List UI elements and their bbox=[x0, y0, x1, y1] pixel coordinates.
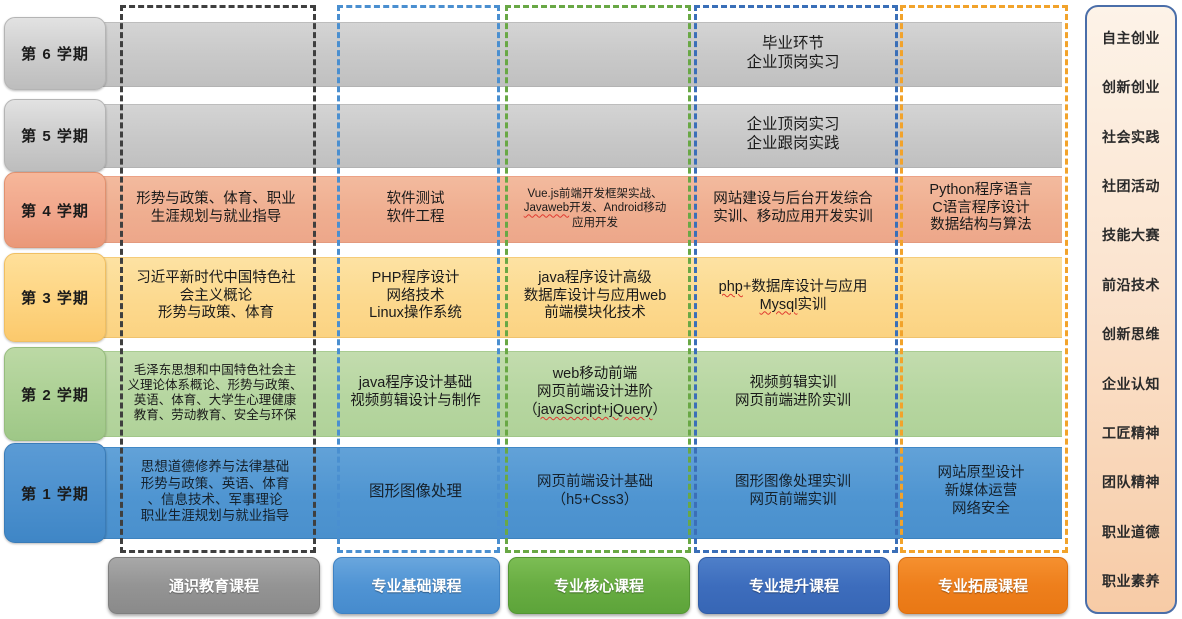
legend-professional-extension[interactable]: 专业拓展课程 bbox=[898, 557, 1068, 614]
legend-label-basic: 专业基础课程 bbox=[371, 575, 461, 596]
side-item-3[interactable]: 社团活动 bbox=[1087, 176, 1175, 196]
legend-label-advance: 专业提升课程 bbox=[749, 575, 839, 596]
category-column-advance[interactable] bbox=[694, 5, 898, 553]
side-item-10[interactable]: 职业道德 bbox=[1087, 522, 1175, 542]
side-item-9[interactable]: 团队精神 bbox=[1087, 472, 1175, 492]
semester-pill-3[interactable]: 第 3 学期 bbox=[4, 253, 106, 342]
side-item-5[interactable]: 前沿技术 bbox=[1087, 275, 1175, 295]
semester-label-3: 第 3 学期 bbox=[21, 287, 89, 308]
semester-pill-2[interactable]: 第 2 学期 bbox=[4, 347, 106, 441]
side-item-7[interactable]: 企业认知 bbox=[1087, 374, 1175, 394]
side-item-0[interactable]: 自主创业 bbox=[1087, 28, 1175, 48]
category-column-general[interactable] bbox=[120, 5, 316, 553]
legend-professional-basic[interactable]: 专业基础课程 bbox=[333, 557, 500, 614]
legend-label-general: 通识教育课程 bbox=[169, 575, 259, 596]
side-item-4[interactable]: 技能大赛 bbox=[1087, 225, 1175, 245]
semester-label-2: 第 2 学期 bbox=[21, 384, 89, 405]
category-column-basic[interactable] bbox=[337, 5, 500, 553]
curriculum-diagram: 第 6 学期 第 5 学期 第 4 学期 第 3 学期 第 2 学期 第 1 学… bbox=[0, 0, 1182, 619]
legend-label-core: 专业核心课程 bbox=[554, 575, 644, 596]
semester-pill-5[interactable]: 第 5 学期 bbox=[4, 99, 106, 172]
side-item-2[interactable]: 社会实践 bbox=[1087, 127, 1175, 147]
semester-label-5: 第 5 学期 bbox=[21, 125, 89, 146]
legend-general-education[interactable]: 通识教育课程 bbox=[108, 557, 320, 614]
category-column-extension[interactable] bbox=[900, 5, 1068, 553]
semester-label-4: 第 4 学期 bbox=[21, 200, 89, 221]
category-column-core[interactable] bbox=[505, 5, 691, 553]
quality-development-panel: 自主创业 创新创业 社会实践 社团活动 技能大赛 前沿技术 创新思维 企业认知 … bbox=[1085, 5, 1177, 614]
legend-professional-advance[interactable]: 专业提升课程 bbox=[698, 557, 890, 614]
side-item-11[interactable]: 职业素养 bbox=[1087, 571, 1175, 591]
semester-pill-4[interactable]: 第 4 学期 bbox=[4, 172, 106, 248]
semester-label-1: 第 1 学期 bbox=[21, 483, 89, 504]
semester-pill-6[interactable]: 第 6 学期 bbox=[4, 17, 106, 90]
legend-label-extension: 专业拓展课程 bbox=[938, 575, 1028, 596]
side-item-1[interactable]: 创新创业 bbox=[1087, 77, 1175, 97]
legend-professional-core[interactable]: 专业核心课程 bbox=[508, 557, 690, 614]
semester-pill-1[interactable]: 第 1 学期 bbox=[4, 443, 106, 543]
side-item-6[interactable]: 创新思维 bbox=[1087, 324, 1175, 344]
semester-label-6: 第 6 学期 bbox=[21, 43, 89, 64]
side-item-8[interactable]: 工匠精神 bbox=[1087, 423, 1175, 443]
